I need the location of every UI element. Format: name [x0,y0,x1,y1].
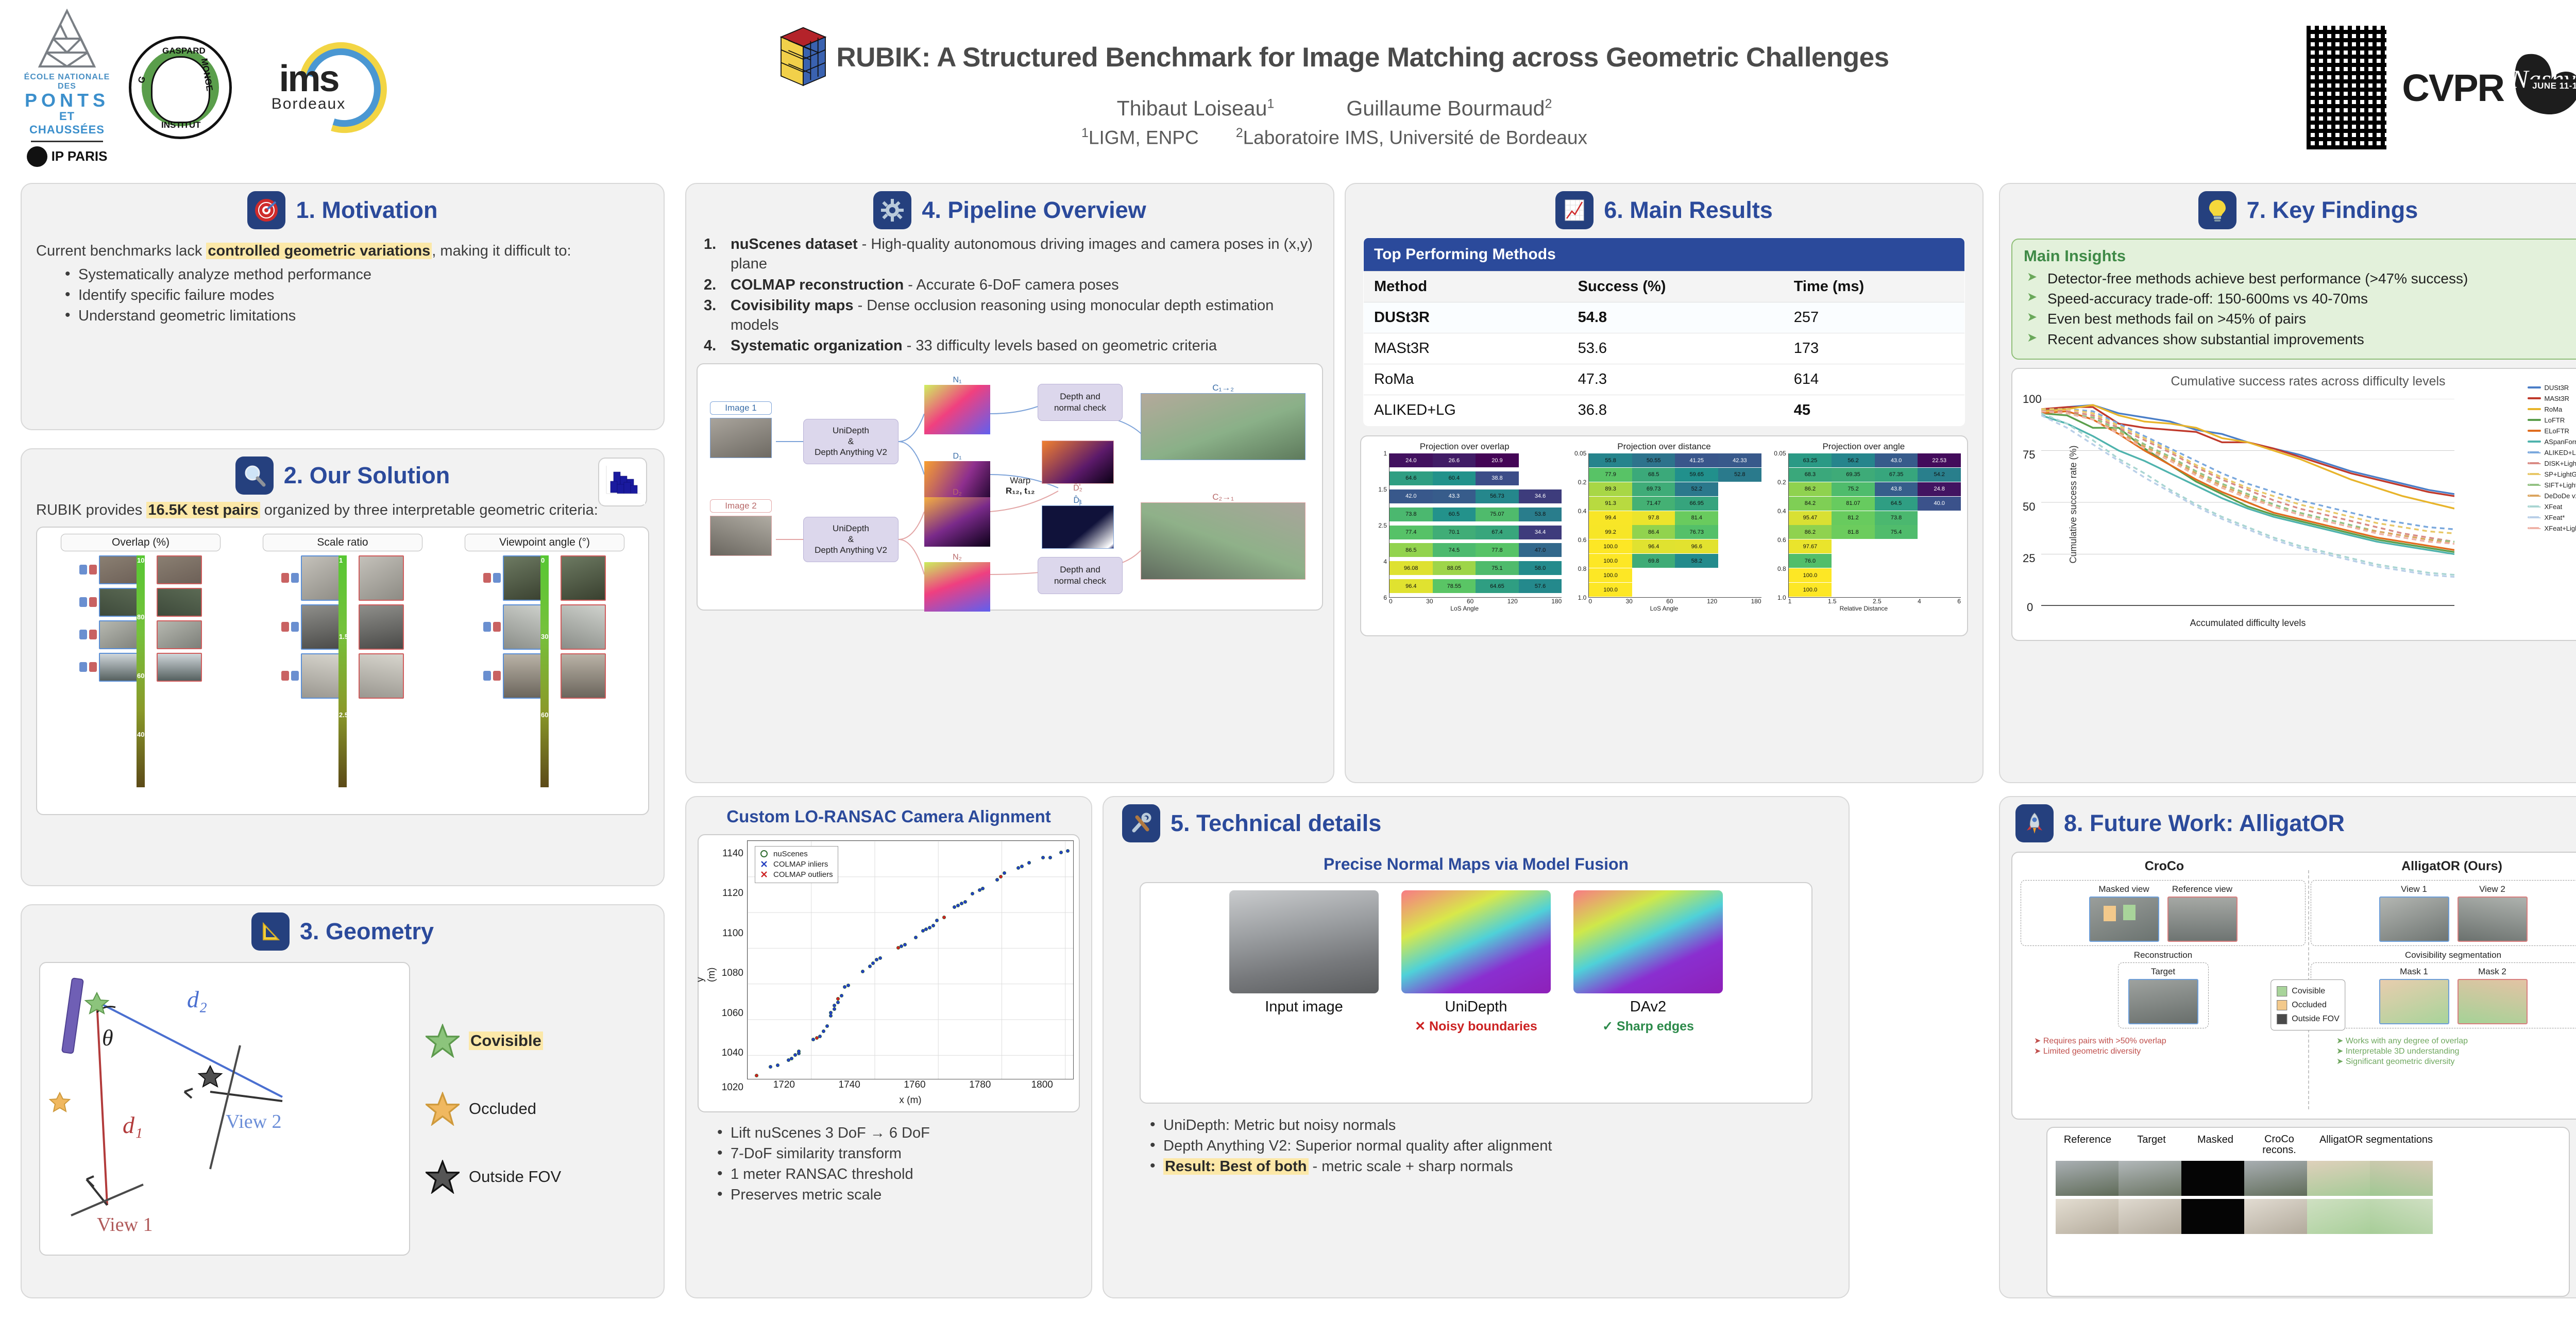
legend-swatch [2528,441,2541,443]
legend-item: LoFTR [2528,415,2576,426]
technical-subtitle: Precise Normal Maps via Model Fusion [1104,855,1849,874]
heatmap: Projection over overlap11.52.54624.026.6… [1367,442,1562,630]
pipeline-diagram: Image 1 Image 2 UniDepth & Depth Anythin… [697,363,1323,611]
pipeline-image2: Image 2 [710,499,772,556]
criterion-overlap: Overlap (%) 100 80 60 40 [44,534,237,787]
rocket-icon [2015,804,2054,842]
heatmap-cell: 47.0 [1519,543,1562,557]
scatter-marker [776,1064,779,1067]
legend-label: SP+LightGlue [2545,470,2576,478]
input-image-thumb [1229,890,1379,993]
heatmap-cell: 86.5 [1389,543,1433,557]
heatmap-cell: 20.9 [1476,453,1519,467]
heatmap-cell: 81.4 [1675,511,1718,525]
heatmap-cell [1832,539,1875,553]
scatter-marker [843,986,846,988]
legend-label: Covisible [469,1031,543,1050]
scatter-marker [978,889,981,891]
pipeline-warped-depth-1: D̂₁ [1042,496,1114,549]
legend-item: DISK+LightGlue [2528,458,2576,469]
croco-reference-thumb [2167,897,2238,942]
heatmap-cell: 81.8 [1832,525,1875,539]
heatmap-cell [1519,453,1562,467]
affiliation-list: 1LIGM, ENPC 2Laboratoire IMS, Université… [556,126,2112,148]
heatmap-cell: 63.25 [1789,453,1832,467]
heatmap-yticks: 0.050.20.40.60.81.0 [1767,453,1788,598]
solution-lead: RUBIK provides 16.5K test pairs organize… [36,501,649,520]
heatmap: Projection over angle0.050.20.40.60.81.0… [1767,442,1961,630]
panel-pipeline-overview: 4. Pipeline Overview nuScenes dataset - … [685,183,1334,783]
scatter-marker [922,929,924,932]
note-item: ➤ Requires pairs with >50% overlap [2034,1036,2306,1046]
heatmap-cell: 67.35 [1875,468,1918,482]
cell-time: 45 [1784,395,1965,426]
criterion-viewpoint-angle: Viewpoint angle (°) 0 30 60 [448,534,641,787]
panel-key-findings: 7. Key Findings Main Insights Detector-f… [1999,183,2576,783]
heatmaps-figure: Projection over overlap11.52.54624.026.6… [1360,435,1968,636]
normal-col-input: Input image [1229,890,1379,1034]
scatter-marker [964,901,967,903]
enpc-line1: ÉCOLE NATIONALE DES [21,73,113,91]
ip-paris-logo: IP PARIS [21,146,113,167]
scatter-marker [957,904,959,907]
heatmap-yticks: 11.52.546 [1367,453,1389,598]
heatmap-cell: 64.65 [1476,579,1519,593]
scatter-marker [798,1050,800,1053]
heatmap-cell: 86.2 [1789,482,1832,496]
scatter-marker [1049,856,1052,859]
heatmap-cell: 50.55 [1632,453,1675,467]
heatmap-cell [1918,525,1961,539]
chart-legend: DUSt3RMASt3RRoMaLoFTRELoFTRASpanFormerAL… [2528,382,2576,534]
heatmap-cell: 41.25 [1675,453,1718,467]
panel-technical-details: 5. Technical details Precise Normal Maps… [1103,796,1850,1298]
chart-series-line [2041,411,2454,544]
heatmap-cell: 77.4 [1389,526,1433,539]
heatmap-xlabel: LoS Angle [1567,605,1761,612]
chart-series-line [2041,405,2454,494]
legend-item: MASt3R [2528,393,2576,404]
note-item: ➤ Significant geometric diversity [2336,1056,2576,1067]
legend-label: MASt3R [2545,395,2569,402]
scatter-legend: nuScenes COLMAP inliers COLMAP outliers [755,846,838,883]
legend-label: ALIKED+LightGlue [2545,449,2576,456]
cell-success: 36.8 [1568,395,1784,426]
croco-target-thumb [2128,979,2198,1024]
heatmap-xlabel: LoS Angle [1367,605,1562,612]
affiliation-2: 2Laboratoire IMS, Université de Bordeaux [1236,126,1587,148]
scatter-xlabel: x (m) [747,1095,1074,1106]
alligator-view1-thumb [2379,897,2449,942]
heatmap-cell [1718,497,1761,511]
heatmap-cell [1875,568,1918,582]
croco-target-label: Target [2123,967,2204,977]
heatmap-cell: 69.73 [1632,482,1675,496]
cell-success: 53.6 [1568,333,1784,364]
heatmap-cell: 58.2 [1675,554,1718,568]
normal-col-dav2: DAv2 ✓ Sharp edges [1573,890,1723,1034]
alligator-mask1-label: Mask 1 [2379,967,2449,977]
scatter-marker [1021,865,1023,868]
panel-our-solution: 2. Our Solution RUBIK provides 16.5K tes… [21,448,665,886]
svg-text:θ: θ [102,1025,113,1051]
heatmap-cell: 78.55 [1433,579,1476,593]
affiliation-1: 1LIGM, ENPC [1081,126,1199,148]
gradient-bar-overlap: 100 80 60 40 [137,555,145,787]
legend-item-outside-fov: Outside FOV [426,1160,561,1194]
scatter-marker [812,1038,815,1041]
heatmap-cell [1519,471,1562,485]
legend-label: XFeat [2545,503,2563,511]
strip-header: Reference [2056,1134,2120,1156]
insights-title: Main Insights [2024,247,2576,265]
croco-masked-thumb [2089,897,2159,942]
heatmap-cell: 42.0 [1389,489,1433,503]
heatmap-cell [1918,568,1961,582]
table-row: RoMa 47.3 614 [1364,364,1965,395]
heatmap-cell: 34.4 [1519,526,1562,539]
heatmap: Projection over distance0.050.20.40.60.8… [1567,442,1761,630]
legend-label: DeDoDe v2 [2545,492,2576,500]
cell-success: 54.8 [1568,302,1784,333]
heatmap-cell: 24.8 [1918,482,1961,496]
panel-title: 1. Motivation [296,197,437,224]
heatmap-cell: 60.5 [1433,508,1476,521]
heatmap-cell: 100.0 [1589,554,1632,568]
alligator-comparison: CroCo AlligatOR (Ours) Masked view [2011,852,2576,1120]
scatter-marker [833,1004,836,1007]
cvpr-wordmark: CVPR [2402,66,2504,110]
heatmap-cell [1875,539,1918,553]
geometry-legend: Covisible Occluded Outside FOV [426,1024,561,1194]
pipeline-steps: nuScenes dataset - High-quality autonomo… [704,234,1333,356]
heatmap-cell: 97.8 [1632,511,1675,525]
scatter-marker [837,997,839,1000]
list-item: Covisibility maps - Dense occlusion reas… [704,296,1320,335]
legend-swatch [2528,527,2541,529]
target-icon [247,191,285,229]
scatter-marker [816,1037,818,1039]
alligator-view2-thumb [2458,897,2528,942]
legend-swatch [2528,462,2541,464]
legend-label: Occluded [469,1100,536,1118]
legend-swatch [2528,516,2541,518]
strip-header: CroCo recons. [2247,1134,2311,1156]
legend-swatch [2528,419,2541,421]
scatter-marker [996,878,998,881]
pipeline-model-box-1: UniDepth & Depth Anything V2 [803,419,899,464]
croco-input-group: Masked view Reference view [2021,880,2306,946]
heatmap-cell: 75.2 [1832,482,1875,496]
heatmap-cell [1832,568,1875,582]
table-row: MASt3R 53.6 173 [1364,333,1965,364]
heatmap-cell: 73.8 [1389,508,1433,521]
heatmap-cell: 59.65 [1675,468,1718,482]
pipeline-check-box-2: Depth and normal check [1038,557,1123,594]
note-item: ➤ Interpretable 3D understanding [2336,1046,2576,1056]
scatter-marker [840,994,843,997]
heatmap-cell [1875,583,1918,597]
list-item: Identify specific failure modes [65,285,649,306]
scatter-marker [953,906,956,908]
heatmap-cell: 100.0 [1589,539,1632,553]
heatmap-cell [1632,568,1675,582]
author-2: Guillaume Bourmaud2 [1346,96,1552,121]
results-table: Top Performing Methods Method Success (%… [1363,238,1965,426]
heatmap-cell: 26.6 [1433,453,1476,467]
col-success: Success (%) [1568,272,1784,302]
ip-paris-mark-icon [27,146,47,167]
heatmap-xlabel: Relative Distance [1767,605,1961,612]
chart-icon [1555,191,1594,229]
lightbulb-icon [2198,191,2236,229]
scatter-ylabel: y (m) [695,960,718,982]
motivation-bullets: Systematically analyze method performanc… [65,264,649,326]
legend-item: ASpanFormer [2528,436,2576,447]
heatmap-cell: 42.33 [1718,453,1761,467]
legend-label: ASpanFormer [2545,438,2576,446]
heatmap-cell [1832,583,1875,597]
alligator-mask2-label: Mask 2 [2458,967,2528,977]
scatter-yticks: 1140 1120 1100 1080 1060 1040 1020 [717,840,747,1106]
3d-histogram-thumbnail [598,458,647,506]
heatmap-cell: 77.8 [1476,543,1519,557]
list-item: Result: Best of both - metric scale + sh… [1150,1156,1849,1177]
heatmap-cell: 53.8 [1519,508,1562,521]
heatmap-cell: 100.0 [1589,568,1632,582]
heatmap-cell: 68.3 [1789,468,1832,482]
scatter-marker [861,970,864,973]
pipeline-warp-label: Warp R₁₂, t₁₂ [1006,476,1035,497]
heatmap-cell: 52.8 [1718,468,1761,482]
heatmap-cell: 43.8 [1875,482,1918,496]
heatmap-cell: 89.3 [1589,482,1632,496]
gradient-bar-angle: 0 30 60 [540,555,549,787]
croco-arrow-label: Reconstruction [2021,950,2306,960]
pipeline-check-box-1: Depth and normal check [1038,384,1123,421]
heatmap-cell: 57.6 [1519,579,1562,593]
heatmap-cell [1632,583,1675,597]
scatter-marker [914,936,917,939]
heatmap-cell [1718,511,1761,525]
heatmap-cell: 76.73 [1675,525,1718,539]
croco-masked-label: Masked view [2089,884,2159,894]
legend-item-occluded: Occluded [426,1092,561,1126]
legend-label: DUSt3R [2545,384,2569,392]
legend-item: ALIKED+LightGlue [2528,447,2576,458]
scatter-xticks: 1720 1740 1760 1780 1800 [747,1079,1074,1095]
poster-root: ÉCOLE NATIONALE DES PONTS ET CHAUSSÉES I… [0,0,2576,1319]
conference-dates: JUNE 11-15, 2025 [2529,79,2576,93]
heatmap-xticks: 03060120180 [1588,598,1761,605]
pipeline-depth-2: D₂ [924,488,990,547]
strip-row-1 [2056,1161,2561,1196]
heatmap-cell: 69.35 [1832,468,1875,482]
legend-label: ELoFTR [2545,427,2569,435]
scatter-marker [1060,851,1062,854]
list-item: COLMAP reconstruction - Accurate 6-DoF c… [704,275,1320,295]
col-time: Time (ms) [1784,272,1965,302]
title-block: RUBIK: A Structured Benchmark for Image … [556,26,2112,148]
heatmap-cell: 43.0 [1875,453,1918,467]
table-row: DUSt3R 54.8 257 [1364,302,1965,333]
svg-text:View 2: View 2 [226,1111,282,1132]
heatmap-cell: 75.4 [1875,525,1918,539]
cell-method: RoMa [1364,364,1568,395]
alligator-title: AlligatOR (Ours) [2308,859,2576,874]
institution-logos: ÉCOLE NATIONALE DES PONTS ET CHAUSSÉES I… [0,9,556,167]
heatmap-cell: 99.2 [1589,525,1632,539]
alligator-mask1-thumb [2379,979,2449,1024]
scatter-marker [936,919,938,922]
enpc-line2: PONTS [21,91,113,110]
normal-col-unidepth: UniDepth ✕ Noisy boundaries [1401,890,1551,1034]
scatter-marker [897,946,900,949]
gradient-bar-scale: 1 1.5 2.5 [338,555,347,787]
heatmap-cell: 95.47 [1789,511,1832,525]
heatmap-cell [1718,482,1761,496]
heatmap-cell: 64.5 [1875,497,1918,511]
col-method: Method [1364,272,1568,302]
chart-series-line [2041,407,2454,496]
motivation-lead: Current benchmarks lack controlled geome… [36,242,649,261]
heatmap-cell: 86.4 [1632,525,1675,539]
legend-swatch [2528,473,2541,475]
alligator-input-group: View 1 View 2 [2311,880,2576,946]
scatter-marker [837,1001,839,1004]
heatmap-title: Projection over distance [1567,442,1761,452]
heatmap-cell [1918,583,1961,597]
legend-swatch [2528,505,2541,508]
legend-label: RoMa [2545,405,2563,413]
ims-subtitle: Bordeaux [272,95,346,113]
cell-success: 47.3 [1568,364,1784,395]
panel-geometry: 3. Geometry θ d₂ d₁ Vie [21,904,665,1298]
cell-method: ALIKED+LG [1364,395,1568,426]
alligator-arrow-label: Covisibility segmentation [2311,950,2576,960]
ytick: 50 [2023,500,2035,514]
heatmap-cell: 81.07 [1832,497,1875,511]
qr-code-icon[interactable] [2307,26,2386,149]
scatter-marker [932,924,935,927]
scatter-marker [1066,850,1069,852]
legend-label: SIFT+LightGlue [2545,481,2576,489]
heatmap-cell: 58.0 [1519,561,1562,575]
legend-swatch [2528,495,2541,497]
ytick: 25 [2023,552,2035,565]
heatmap-cell [1832,554,1875,568]
list-item: Detector-free methods achieve best perfo… [2024,268,2576,289]
panel-title: 5. Technical details [1171,810,1381,837]
scatter-marker [1028,861,1030,864]
scatter-marker [1042,856,1044,859]
heatmap-cell: 34.6 [1519,489,1562,503]
alligator-notes: ➤ Works with any degree of overlap ➤ Int… [2336,1036,2576,1067]
legend-label: LoFTR [2545,416,2565,424]
list-item: Speed-accuracy trade-off: 150-600ms vs 4… [2024,289,2576,309]
heatmap-cell: 54.2 [1918,468,1961,482]
enpc-logo: ÉCOLE NATIONALE DES PONTS ET CHAUSSÉES I… [21,9,113,167]
legend-label: DISK+LightGlue [2545,460,2576,467]
scatter-marker [819,1035,821,1038]
gear-icon [873,191,911,229]
list-item: Systematically analyze method performanc… [65,264,649,285]
heatmap-cell: 60.4 [1433,471,1476,485]
heatmap-yticks: 0.050.20.40.60.81.0 [1567,453,1588,598]
scatter-marker [999,875,1002,878]
panel-title: 3. Geometry [300,918,434,945]
scatter-marker [879,957,882,959]
heatmap-cell [1918,554,1961,568]
heatmap-cell: 88.05 [1433,561,1476,575]
alligator-view2-label: View 2 [2458,884,2528,894]
pipeline-warped-depth-2: D̂₂ [1042,441,1114,493]
heatmap-cell [1718,568,1761,582]
panel-title: 7. Key Findings [2247,197,2418,224]
scatter-marker [925,928,927,931]
heatmap-xticks: 11.52.546 [1788,598,1961,605]
heatmap-cell [1875,554,1918,568]
scatter-marker [847,984,850,987]
scatter-marker [872,962,874,965]
heatmap-cell: 71.47 [1632,497,1675,511]
cell-method: MASt3R [1364,333,1568,364]
image-note: ✓ Sharp edges [1573,1019,1723,1034]
croco-title: CroCo [2021,859,2308,874]
heatmap-cell: 67.4 [1476,526,1519,539]
criterion-label: Scale ratio [263,534,422,551]
heatmap-cell: 73.8 [1875,511,1918,525]
criterion-scale-ratio: Scale ratio 1 1.5 2.5 [246,534,439,787]
cell-time: 614 [1784,364,1965,395]
scatter-marker [755,1074,758,1077]
scatter-marker [769,1066,772,1068]
chart-series-line [2041,405,2454,509]
page-title: RUBIK: A Structured Benchmark for Image … [836,42,1889,73]
heatmap-cell: 96.6 [1675,539,1718,553]
pipeline-covis-1to2: C₁→₂ [1141,383,1306,460]
list-item: UniDepth: Metric but noisy normals [1150,1115,1849,1136]
strip-headers: Reference Target Masked CroCo recons. Al… [2056,1134,2561,1156]
croco-reference-label: Reference view [2167,884,2238,894]
heatmap-cell: 22.53 [1918,453,1961,467]
poster-header: ÉCOLE NATIONALE DES PONTS ET CHAUSSÉES I… [0,0,2576,175]
ransac-bullets: Lift nuScenes 3 DoF → 6 DoF 7-DoF simila… [717,1123,1091,1205]
chart-title: Cumulative success rates across difficul… [2012,369,2576,389]
scatter-marker [971,892,974,895]
scatter-marker [960,902,963,905]
cumulative-success-chart: Cumulative success rates across difficul… [2011,368,2576,641]
magnifier-icon [235,456,274,495]
alligator-mask2-thumb [2458,979,2528,1024]
heatmap-cell: 70.1 [1433,526,1476,539]
list-item: Understand geometric limitations [65,306,649,326]
heatmap-xticks: 03060120180 [1389,598,1562,605]
scatter-marker [928,926,931,929]
scatter-marker [822,1030,825,1033]
legend-item: RoMa [2528,404,2576,415]
list-item: Preserves metric scale [717,1185,1091,1205]
legend-item: XFeat [2528,501,2576,512]
list-item: 7-DoF similarity transform [717,1143,1091,1164]
list-item: 1 meter RANSAC threshold [717,1164,1091,1185]
legend-item: XFeat* [2528,512,2576,523]
scatter-marker [829,1011,832,1014]
heatmap-cell: 74.5 [1433,543,1476,557]
svg-text:d₂: d₂ [187,986,207,1012]
ytick: 0 [2027,601,2033,614]
heatmap-cell: 55.8 [1589,453,1632,467]
